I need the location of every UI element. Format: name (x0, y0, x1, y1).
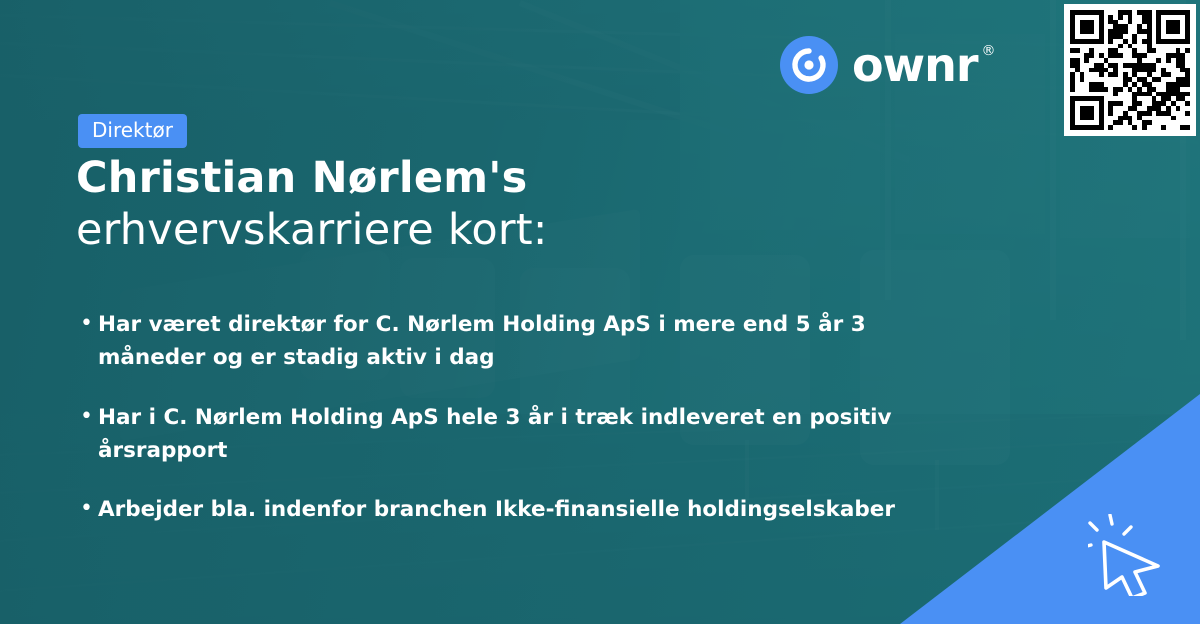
role-badge: Direktør (78, 114, 187, 148)
mouse-cursor-click-icon (1088, 514, 1168, 596)
brand-name-text: ownr (852, 38, 978, 92)
career-bullet-list: • Har været direktør for C. Nørlem Holdi… (80, 308, 960, 553)
list-item: • Har været direktør for C. Nørlem Holdi… (80, 308, 960, 375)
brand-logo[interactable]: ownr® (780, 36, 978, 94)
list-item-text: Har været direktør for C. Nørlem Holding… (98, 308, 960, 375)
bullet-dot-icon: • (80, 308, 98, 340)
headline-line-1: Christian Nørlem's (76, 152, 836, 204)
headline-line-2: erhvervskarriere kort: (76, 204, 836, 256)
page-title: Christian Nørlem's erhvervskarriere kort… (76, 152, 836, 257)
brand-name: ownr® (852, 42, 978, 88)
list-item-text: Har i C. Nørlem Holding ApS hele 3 år i … (98, 401, 960, 468)
list-item: • Arbejder bla. indenfor branchen Ikke-f… (80, 493, 960, 526)
bullet-dot-icon: • (80, 401, 98, 433)
career-card: ownr® Direktør Christian Nørlem's erhver… (0, 0, 1200, 624)
list-item-text: Arbejder bla. indenfor branchen Ikke-fin… (98, 493, 895, 526)
bullet-dot-icon: • (80, 493, 98, 525)
list-item: • Har i C. Nørlem Holding ApS hele 3 år … (80, 401, 960, 468)
qr-code[interactable] (1064, 4, 1196, 136)
registered-mark: ® (982, 44, 995, 58)
qr-code-grid (1070, 10, 1190, 130)
ownr-circle-logo-icon (780, 36, 838, 94)
